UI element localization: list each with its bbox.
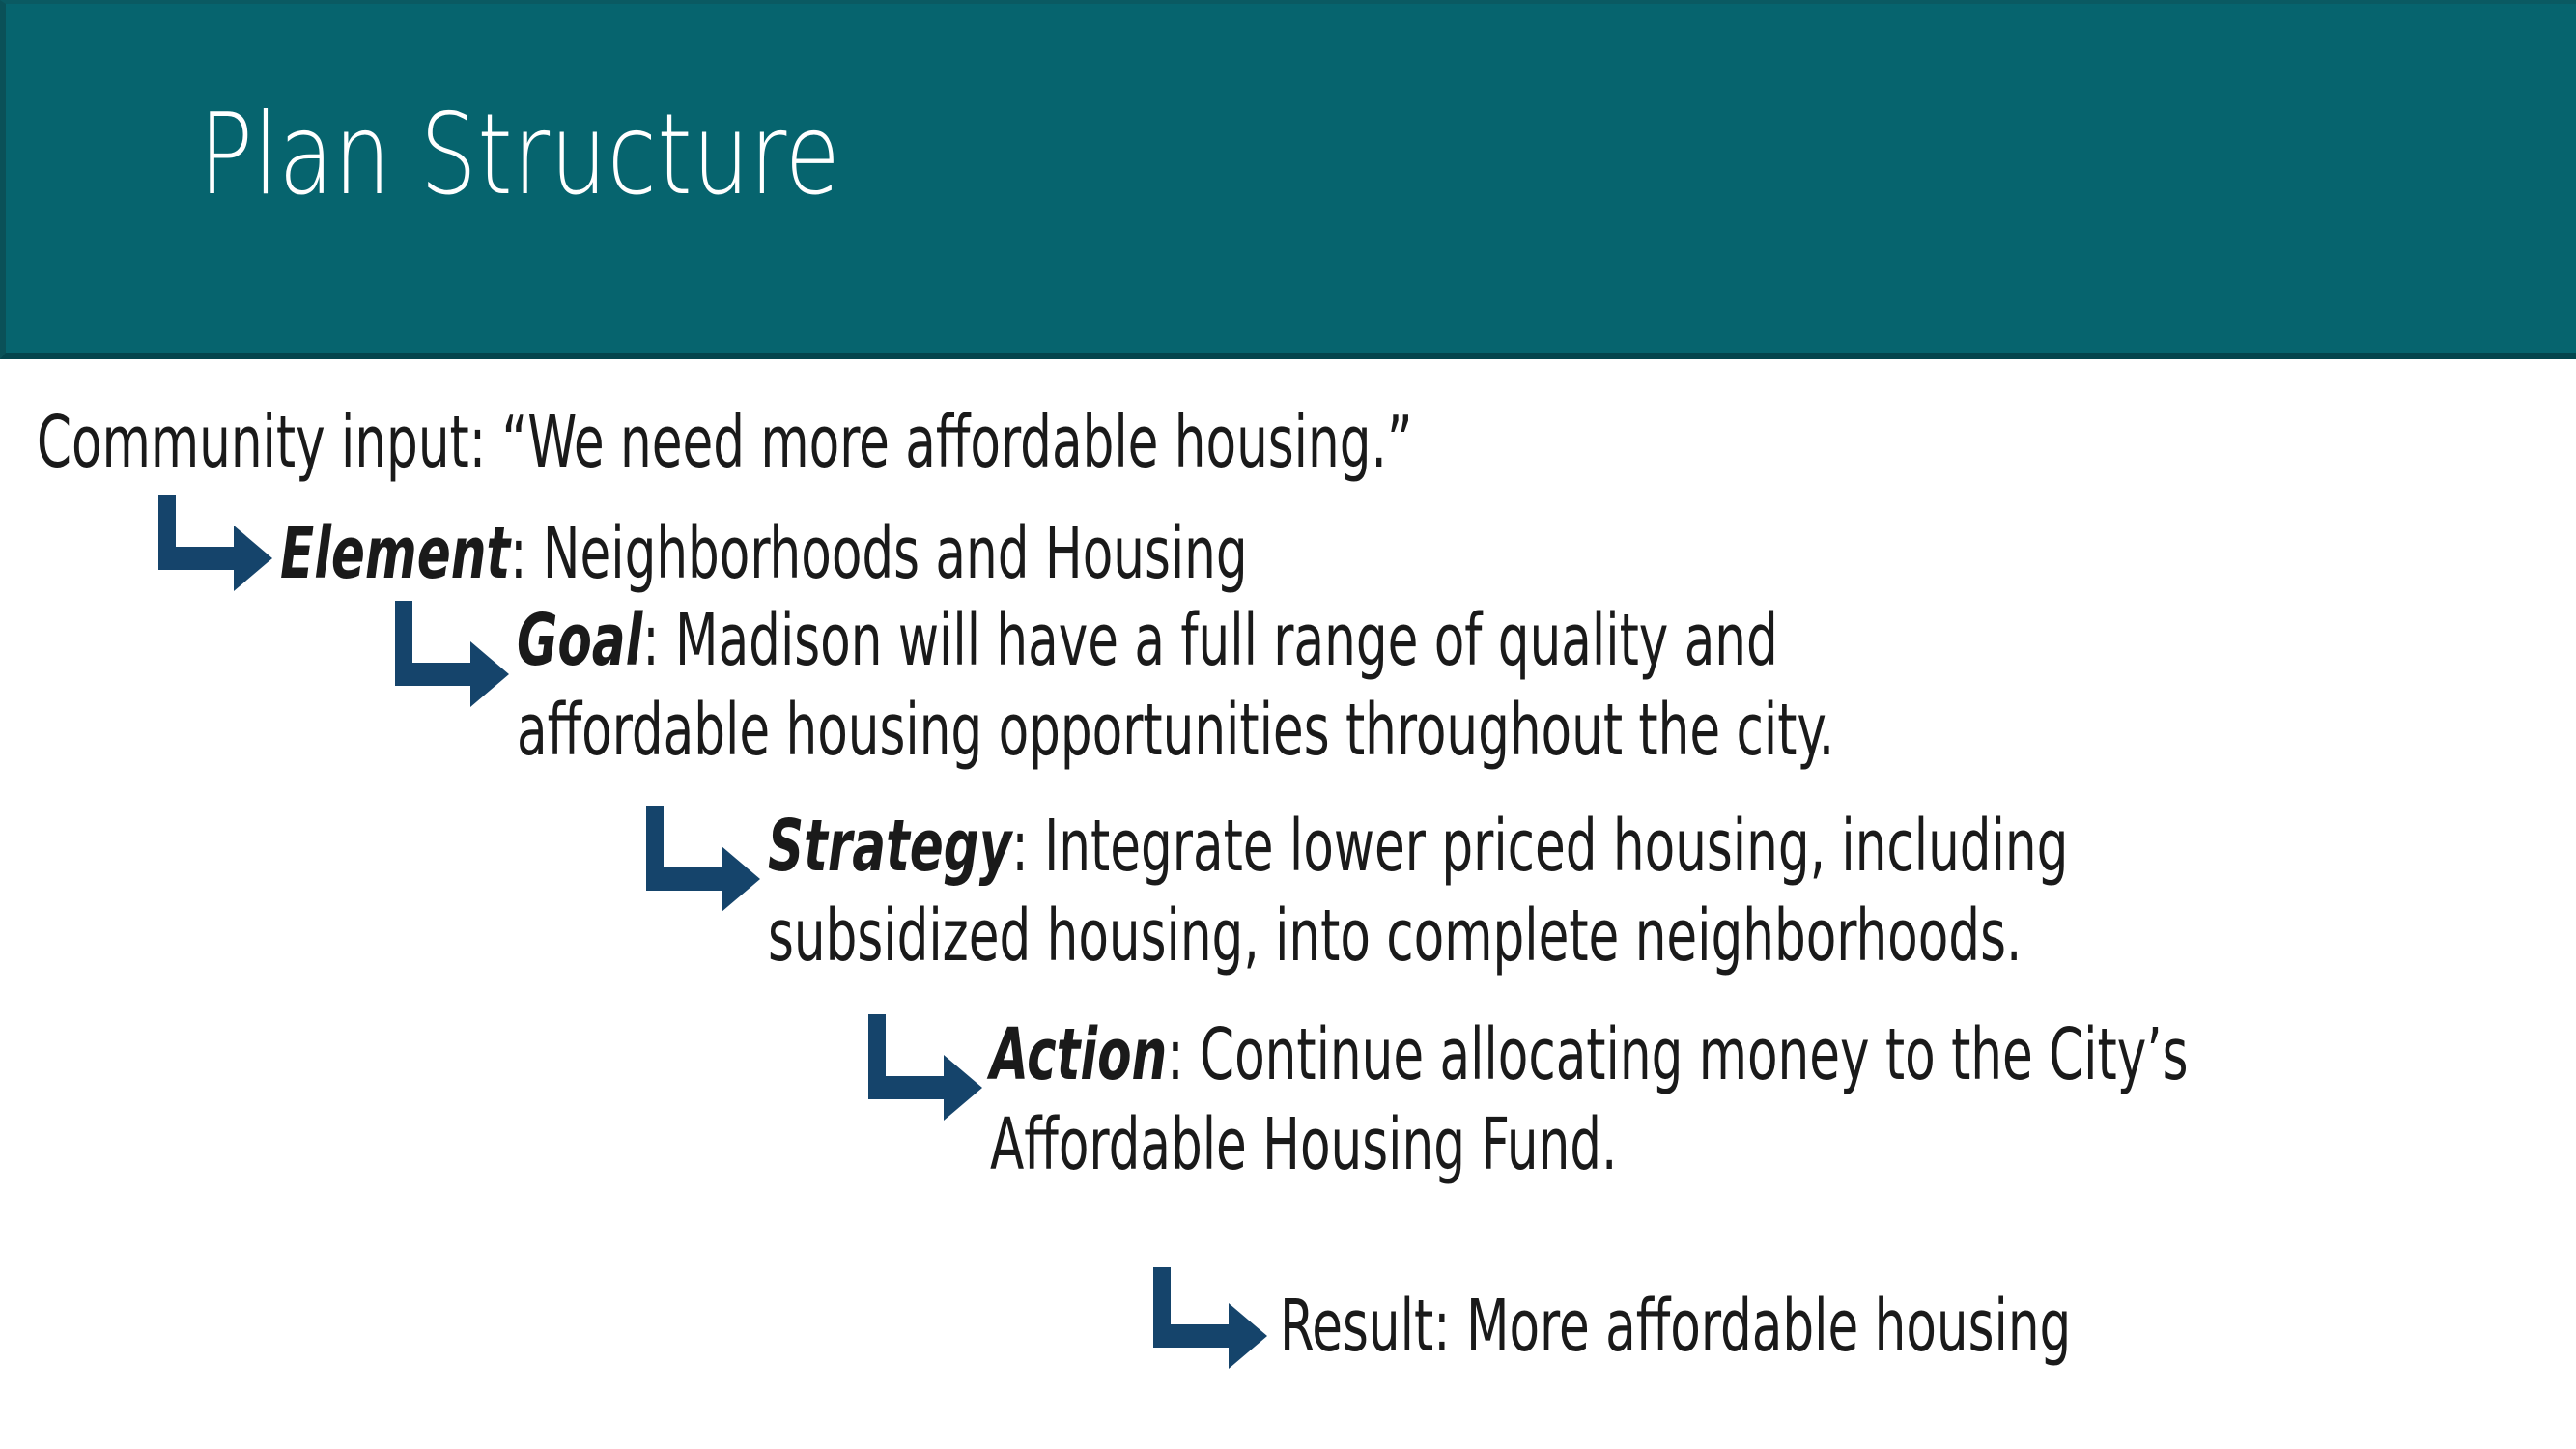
strategy-label: Strategy [768,805,1011,888]
goal-text-1: : Madison will have a full range of qual… [642,599,1778,682]
hierarchy-item-community-input: Community input: “We need more affordabl… [37,398,1812,488]
element-text: : Neighborhoods and Housing [510,512,1248,595]
elbow-arrow-action-icon [864,1014,985,1121]
action-label: Action [990,1013,1167,1096]
strategy-line-2: subsidized housing, into complete neighb… [768,892,2068,981]
strategy-text-1: : Integrate lower priced housing, includ… [1011,805,2068,888]
hierarchy-item-action: Action: Continue allocating money to the… [990,1010,2536,1190]
hierarchy-item-goal: Goal: Madison will have a full range of … [517,596,2217,776]
action-text-1: : Continue allocating money to the City’… [1167,1013,2188,1096]
element-line: Element: Neighborhoods and Housing [280,509,1248,599]
goal-line-2: affordable housing opportunities through… [517,686,1834,776]
hierarchy-item-element: Element: Neighborhoods and Housing [280,509,1528,599]
hierarchy-item-result: Result: More affordable housing [1280,1282,2301,1372]
goal-line-1: Goal: Madison will have a full range of … [517,596,1834,686]
plan-structure-hierarchy: Community input: “We need more affordabl… [0,359,2576,1449]
result-label: Result [1280,1285,1433,1368]
action-line-2: Affordable Housing Fund. [990,1100,2189,1190]
elbow-arrow-strategy-icon [642,806,763,912]
elbow-arrow-element-icon [155,495,275,591]
elbow-arrow-result-icon [1149,1267,1270,1369]
elbow-arrow-goal-icon [391,601,512,707]
community-input-line: Community input: “We need more affordabl… [37,398,1413,488]
strategy-line-1: Strategy: Integrate lower priced housing… [768,802,2068,892]
element-label: Element [280,512,510,595]
result-line: Result: More affordable housing [1280,1282,2071,1372]
page-title: Plan Structure [199,97,840,214]
result-text: : More affordable housing [1433,1285,2071,1368]
title-banner: Plan Structure [0,0,2576,359]
goal-label: Goal [517,599,642,682]
action-line-1: Action: Continue allocating money to the… [990,1010,2189,1100]
slide: Plan Structure Community input: “We need… [0,0,2576,1449]
hierarchy-item-strategy: Strategy: Integrate lower priced housing… [768,802,2446,981]
